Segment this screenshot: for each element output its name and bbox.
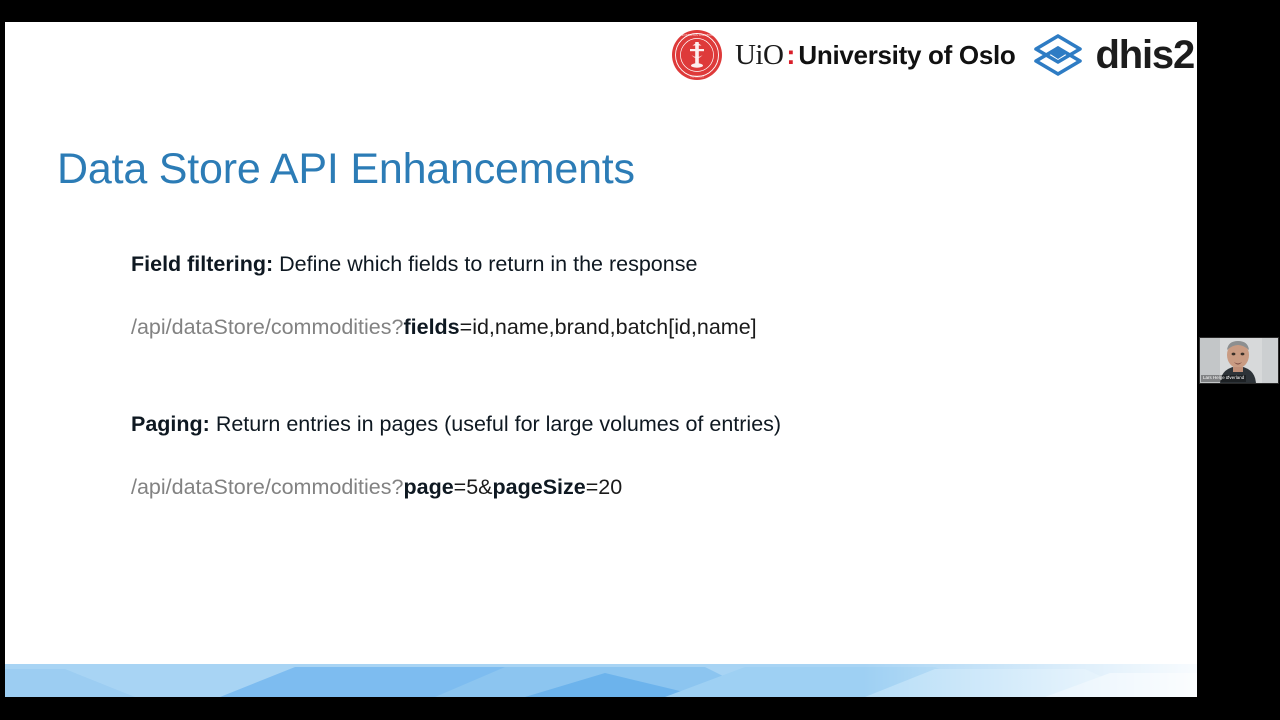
logo-bar: UNIVERSITAS OSLOENSIS MDCCCXI UiO : Univ… <box>671 27 1194 83</box>
slide-body: Field filtering: Define which fields to … <box>131 250 1111 502</box>
content-block-paging: Paging: Return entries in pages (useful … <box>131 410 1111 502</box>
paging-lead: Paging: <box>131 412 210 436</box>
endpoint-param-pagesize: pageSize <box>493 475 586 499</box>
page-title: Data Store API Enhancements <box>57 145 635 194</box>
dhis2-diamond-icon <box>1030 30 1086 80</box>
paging-statement: Paging: Return entries in pages (useful … <box>131 410 1111 439</box>
participant-name-label: Lars Helge Øverland <box>1201 375 1246 382</box>
endpoint-param-page: page <box>403 475 453 499</box>
endpoint-path: /api/dataStore/commodities? <box>131 315 403 339</box>
dhis2-wordmark: dhis2 <box>1096 35 1194 75</box>
block-spacer <box>131 342 1111 410</box>
field-filtering-statement: Field filtering: Define which fields to … <box>131 250 1111 279</box>
dhis2-logo: dhis2 <box>1030 30 1194 80</box>
svg-text:UNIVERSITAS OSLOENSIS: UNIVERSITAS OSLOENSIS <box>679 33 715 37</box>
svg-text:MDCCCXI: MDCCCXI <box>690 75 704 79</box>
paging-description: Return entries in pages (useful for larg… <box>210 412 781 436</box>
uio-abbrev: UiO <box>735 39 783 72</box>
endpoint-param-fields: fields <box>403 315 459 339</box>
uio-logo: UNIVERSITAS OSLOENSIS MDCCCXI UiO : Univ… <box>671 29 1016 81</box>
presentation-slide: UNIVERSITAS OSLOENSIS MDCCCXI UiO : Univ… <box>5 22 1197 697</box>
paging-endpoint: /api/dataStore/commodities?page=5&pageSi… <box>131 473 1111 502</box>
endpoint-value-page: =5& <box>454 475 493 499</box>
content-block-field-filtering: Field filtering: Define which fields to … <box>131 250 1111 342</box>
footer-decoration <box>5 661 1197 697</box>
uio-seal-icon: UNIVERSITAS OSLOENSIS MDCCCXI <box>671 29 723 81</box>
webcam-thumbnail[interactable]: Lars Helge Øverland <box>1199 337 1279 384</box>
field-filtering-endpoint: /api/dataStore/commodities?fields=id,nam… <box>131 313 1111 342</box>
endpoint-value-pagesize: =20 <box>586 475 622 499</box>
video-frame: UNIVERSITAS OSLOENSIS MDCCCXI UiO : Univ… <box>0 0 1280 720</box>
uio-full-name: University of Oslo <box>798 40 1015 71</box>
field-filtering-description: Define which fields to return in the res… <box>273 252 697 276</box>
uio-separator: : <box>783 40 798 71</box>
endpoint-path: /api/dataStore/commodities? <box>131 475 403 499</box>
endpoint-value-fields: =id,name,brand,batch[id,name] <box>460 315 757 339</box>
field-filtering-lead: Field filtering: <box>131 252 273 276</box>
uio-wordmark: UiO : University of Oslo <box>735 39 1016 72</box>
